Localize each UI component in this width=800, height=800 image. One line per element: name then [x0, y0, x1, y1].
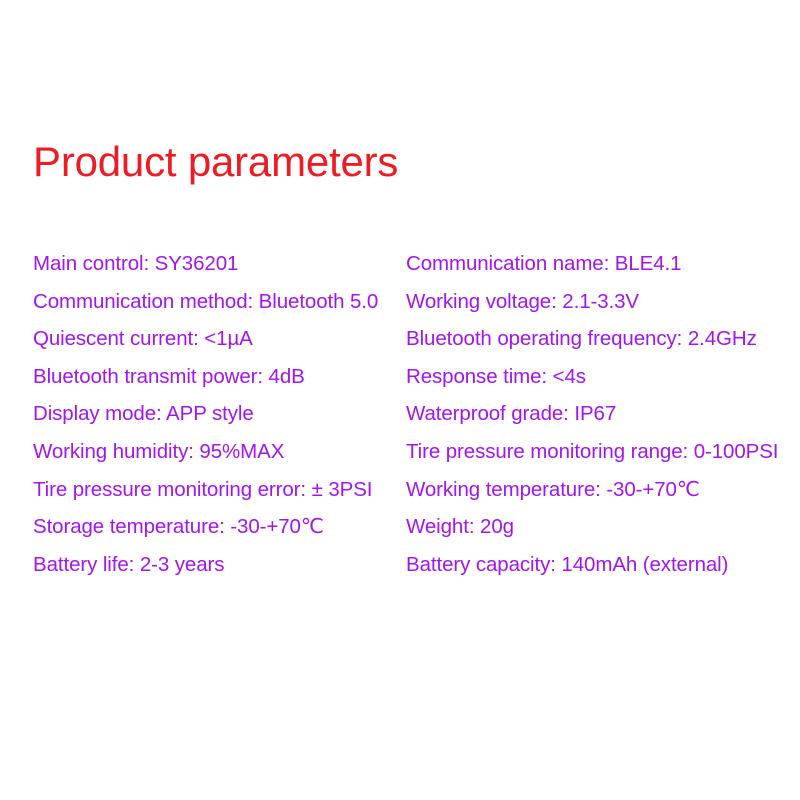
spec-item-storage-temperature: Storage temperature: -30-+70℃	[33, 513, 324, 541]
spec-item-bluetooth-operating-frequency: Bluetooth operating frequency: 2.4GHz	[406, 325, 757, 353]
spec-item-display-mode: Display mode: APP style	[33, 400, 254, 428]
spec-item-battery-life: Battery life: 2-3 years	[33, 551, 224, 579]
spec-item-tire-pressure-monitoring-error: Tire pressure monitoring error: ± 3PSI	[33, 476, 372, 504]
table-row: Communication method: Bluetooth 5.0 Work…	[0, 288, 800, 326]
spec-item-response-time: Response time: <4s	[406, 363, 586, 391]
table-row: Working humidity: 95%MAX Tire pressure m…	[0, 438, 800, 476]
spec-item-tire-pressure-monitoring-range: Tire pressure monitoring range: 0-100PSI	[406, 438, 778, 466]
table-row: Tire pressure monitoring error: ± 3PSI W…	[0, 476, 800, 514]
table-row: Quiescent current: <1µA Bluetooth operat…	[0, 325, 800, 363]
spec-item-communication-name: Communication name: BLE4.1	[406, 250, 681, 278]
product-parameters-page: Product parameters Main control: SY36201…	[0, 0, 800, 800]
spec-item-main-control: Main control: SY36201	[33, 250, 238, 278]
spec-item-working-humidity: Working humidity: 95%MAX	[33, 438, 284, 466]
spec-item-battery-capacity: Battery capacity: 140mAh (external)	[406, 551, 728, 579]
spec-item-working-temperature: Working temperature: -30-+70℃	[406, 476, 700, 504]
table-row: Main control: SY36201 Communication name…	[0, 250, 800, 288]
spec-item-communication-method: Communication method: Bluetooth 5.0	[33, 288, 378, 316]
table-row: Storage temperature: -30-+70℃ Weight: 20…	[0, 513, 800, 551]
spec-item-weight: Weight: 20g	[406, 513, 514, 541]
spec-item-quiescent-current: Quiescent current: <1µA	[33, 325, 253, 353]
table-row: Battery life: 2-3 years Battery capacity…	[0, 551, 800, 589]
spec-item-waterproof-grade: Waterproof grade: IP67	[406, 400, 616, 428]
spec-item-bluetooth-transmit-power: Bluetooth transmit power: 4dB	[33, 363, 305, 391]
table-row: Display mode: APP style Waterproof grade…	[0, 400, 800, 438]
specifications-table: Main control: SY36201 Communication name…	[0, 250, 800, 588]
table-row: Bluetooth transmit power: 4dB Response t…	[0, 363, 800, 401]
page-title: Product parameters	[33, 139, 398, 185]
spec-item-working-voltage: Working voltage: 2.1-3.3V	[406, 288, 639, 316]
